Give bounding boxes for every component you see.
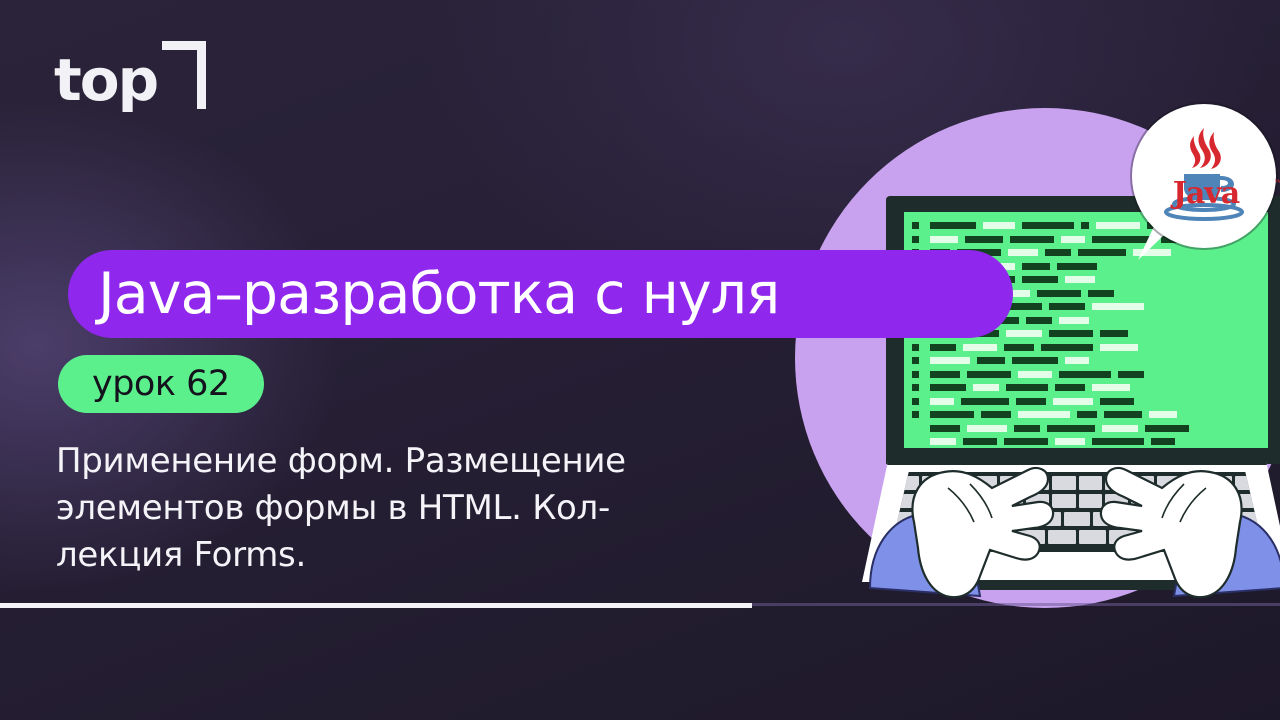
logo-wordmark: top <box>54 51 157 109</box>
java-trademark: ™ <box>1274 178 1280 187</box>
lesson-number-badge: урок 62 <box>58 355 264 413</box>
description-line-1: Применение форм. Размещение <box>56 438 746 485</box>
bracket-vertical-bar <box>197 41 206 109</box>
right-hand <box>1101 468 1242 597</box>
left-hand <box>912 468 1053 597</box>
top-logo[interactable]: top <box>54 41 204 111</box>
lesson-description: Применение форм. Размещениеэлементов фор… <box>56 438 746 579</box>
page-title: Java–разработка с нуля <box>68 266 779 323</box>
course-title-pill: Java–разработка с нуля <box>68 250 1013 338</box>
divider-line <box>0 603 752 608</box>
corner-bracket-icon <box>162 41 206 109</box>
java-logo-badge: Java ™ <box>1132 104 1280 272</box>
java-wordmark: Java <box>1132 176 1280 211</box>
description-line-2: элементов формы в HTML. Кол- <box>56 485 746 532</box>
divider-line-extension <box>752 603 1280 606</box>
lesson-badge-label: урок 62 <box>92 367 230 402</box>
slide-canvas: Java ™ top Java–разработка с нуля урок 6… <box>0 0 1280 720</box>
description-line-3: лекция Forms. <box>56 532 746 579</box>
